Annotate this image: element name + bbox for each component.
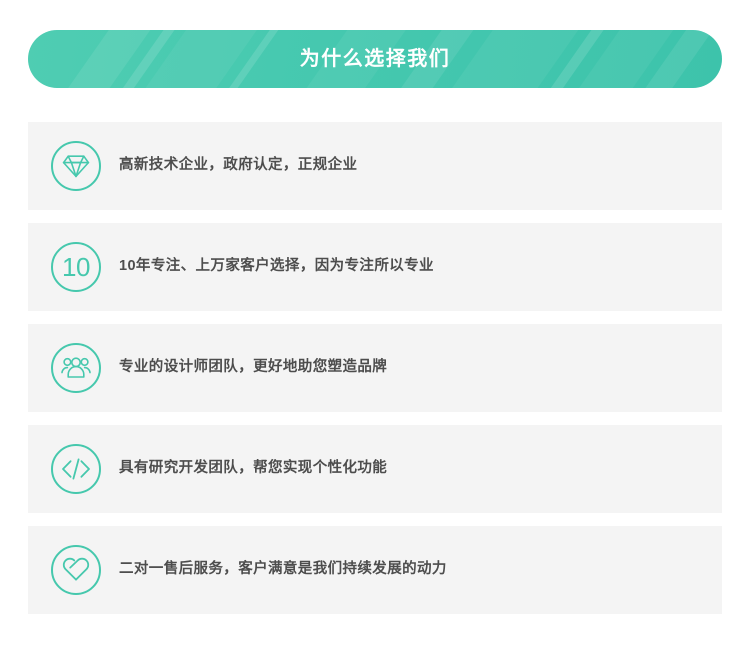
- list-item-label: 专业的设计师团队，更好地助您塑造品牌: [119, 359, 387, 376]
- page-root: 为什么选择我们 高新技术企业，政府认定，正规企业 10 10年专注、上万家客户选…: [0, 0, 750, 663]
- list-item[interactable]: 高新技术企业，政府认定，正规企业: [28, 122, 722, 210]
- list-item[interactable]: 具有研究开发团队，帮您实现个性化功能: [28, 425, 722, 513]
- list-item-label: 高新技术企业，政府认定，正规企业: [119, 157, 357, 174]
- section-header-banner: 为什么选择我们: [28, 30, 722, 88]
- code-brackets-icon: [51, 444, 101, 494]
- list-item[interactable]: 二对一售后服务，客户满意是我们持续发展的动力: [28, 526, 722, 614]
- number-ten-icon: 10: [51, 242, 101, 292]
- diamond-icon: [51, 141, 101, 191]
- list-item-label: 具有研究开发团队，帮您实现个性化功能: [119, 460, 387, 477]
- page-title: 为什么选择我们: [300, 49, 451, 69]
- people-group-icon: [51, 343, 101, 393]
- list-item[interactable]: 10 10年专注、上万家客户选择，因为专注所以专业: [28, 223, 722, 311]
- list-item-label: 二对一售后服务，客户满意是我们持续发展的动力: [119, 561, 447, 578]
- feature-list: 高新技术企业，政府认定，正规企业 10 10年专注、上万家客户选择，因为专注所以…: [28, 122, 722, 614]
- list-item-label: 10年专注、上万家客户选择，因为专注所以专业: [119, 258, 434, 275]
- list-item[interactable]: 专业的设计师团队，更好地助您塑造品牌: [28, 324, 722, 412]
- heart-icon: [51, 545, 101, 595]
- number-ten-label: 10: [62, 254, 90, 280]
